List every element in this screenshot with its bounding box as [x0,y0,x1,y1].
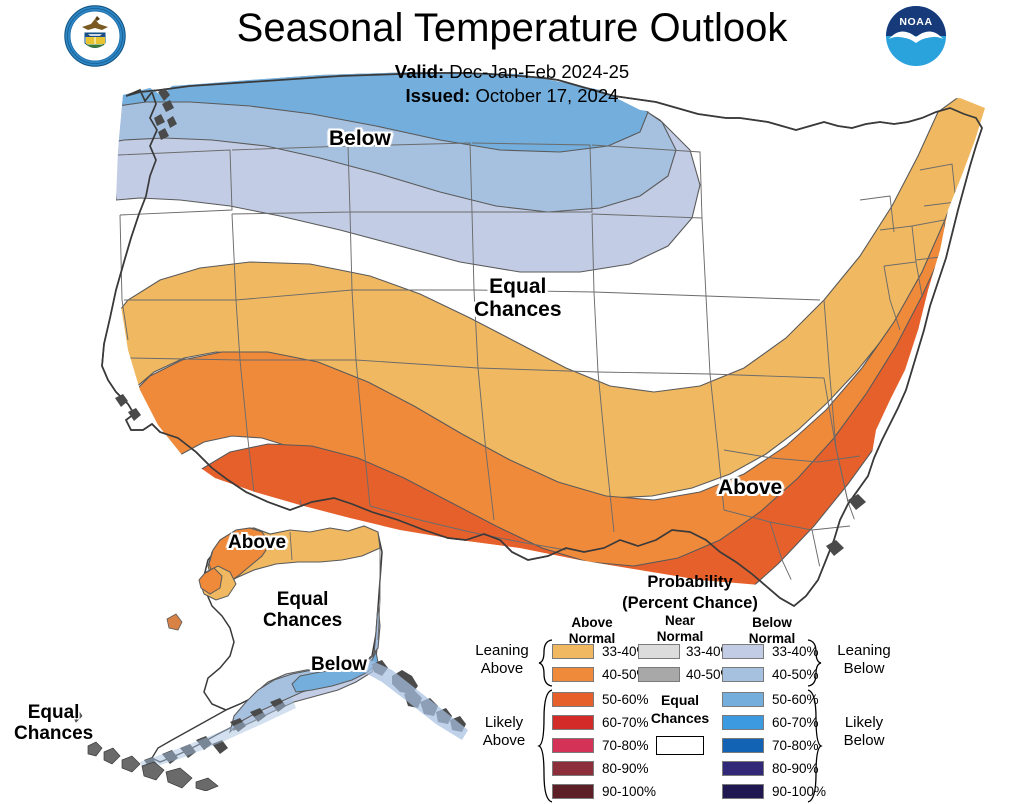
alaska-island-orange [167,614,182,630]
seasonal-outlook-page: Seasonal Temperature Outlook Valid: Dec-… [0,0,1024,791]
side-line1: Leaning [818,642,910,660]
probability-legend: Probability (Percent Chance) Above Norma… [460,572,912,791]
legend-title-line1: Probability [560,572,820,593]
swatch-label-above-80-90: 80-90% [602,761,649,776]
page-title: Seasonal Temperature Outlook [0,6,1024,51]
head-line2: Normal [638,629,722,645]
swatch-below-60-70 [722,715,764,730]
legend-side-label-leaning-above: Leaning Above [462,642,542,679]
map-label-above-alaska: Above [228,533,286,554]
swatch-near-40-50 [638,667,680,682]
swatch-below-33-40 [722,644,764,659]
alaska-panhandle-tint [360,658,468,740]
department-of-commerce-seal [58,3,132,69]
swatch-label-above-90-100: 90-100% [602,784,656,799]
side-line1: Leaning [462,642,542,660]
swatch-label-above-70-80: 70-80% [602,738,649,753]
legend-side-label-likely-above: Likely Above [466,714,542,751]
swatch-above-40-50 [552,667,594,682]
valid-value: Dec-Jan-Feb 2024-25 [449,61,629,82]
map-label-above-conus: Above [718,477,782,500]
head-line1: Near [638,613,722,629]
swatch-below-50-60 [722,692,764,707]
eq-line1: Equal [638,692,722,710]
legend-equal-chances-title: Equal Chances [638,692,722,727]
valid-period-line: Valid: Dec-Jan-Feb 2024-25 [0,61,1024,83]
eq-line2: Chances [638,710,722,728]
head-line1: Above [548,615,636,631]
alaska-inset [140,526,468,770]
side-line2: Below [820,732,908,750]
swatch-below-40-50 [722,667,764,682]
swatch-equal-chances [656,736,704,755]
equal-line1: Equal [474,276,562,299]
side-line2: Below [818,660,910,678]
legend-title-line2: (Percent Chance) [560,593,820,614]
issued-date-line: Issued: October 17, 2024 [0,85,1024,107]
swatch-above-80-90 [552,761,594,776]
issued-label: Issued: [406,85,471,106]
swatch-above-60-70 [552,715,594,730]
swatch-above-33-40 [552,644,594,659]
side-line2: Above [466,732,542,750]
equal-line2: Chances [14,724,93,745]
map-label-equal-chances-conus: Equal Chances [474,276,562,321]
side-line2: Above [462,660,542,678]
swatch-above-50-60 [552,692,594,707]
legend-column-header-near-normal: Near Normal [638,613,722,645]
legend-side-label-leaning-below: Leaning Below [818,642,910,679]
equal-line2: Chances [474,299,562,322]
legend-column-header-above-normal: Above Normal [548,615,636,647]
swatch-above-90-100 [552,784,594,799]
legend-column-header-below-normal: Below Normal [728,615,816,647]
valid-label: Valid: [395,61,444,82]
swatch-above-70-80 [552,738,594,753]
side-line1: Likely [466,714,542,732]
swatch-near-33-40 [638,644,680,659]
map-label-equal-chances-hawaii: Equal Chances [14,703,93,744]
swatch-below-80-90 [722,761,764,776]
equal-line1: Equal [14,703,93,724]
legend-title: Probability (Percent Chance) [560,572,820,614]
head-line1: Below [728,615,816,631]
equal-line1: Equal [263,590,342,611]
map-label-below-conus: Below [329,128,391,151]
aleutian-tint [140,698,296,770]
noaa-logo-text: NOAA [899,16,932,28]
map-label-equal-chances-alaska: Equal Chances [263,590,342,631]
issued-value: October 17, 2024 [475,85,618,106]
swatch-below-70-80 [722,738,764,753]
side-line1: Likely [820,714,908,732]
swatch-below-90-100 [722,784,764,799]
legend-side-label-likely-below: Likely Below [820,714,908,751]
noaa-logo: NOAA [883,3,949,69]
equal-line2: Chances [263,611,342,632]
map-label-below-alaska: Below [311,655,367,676]
